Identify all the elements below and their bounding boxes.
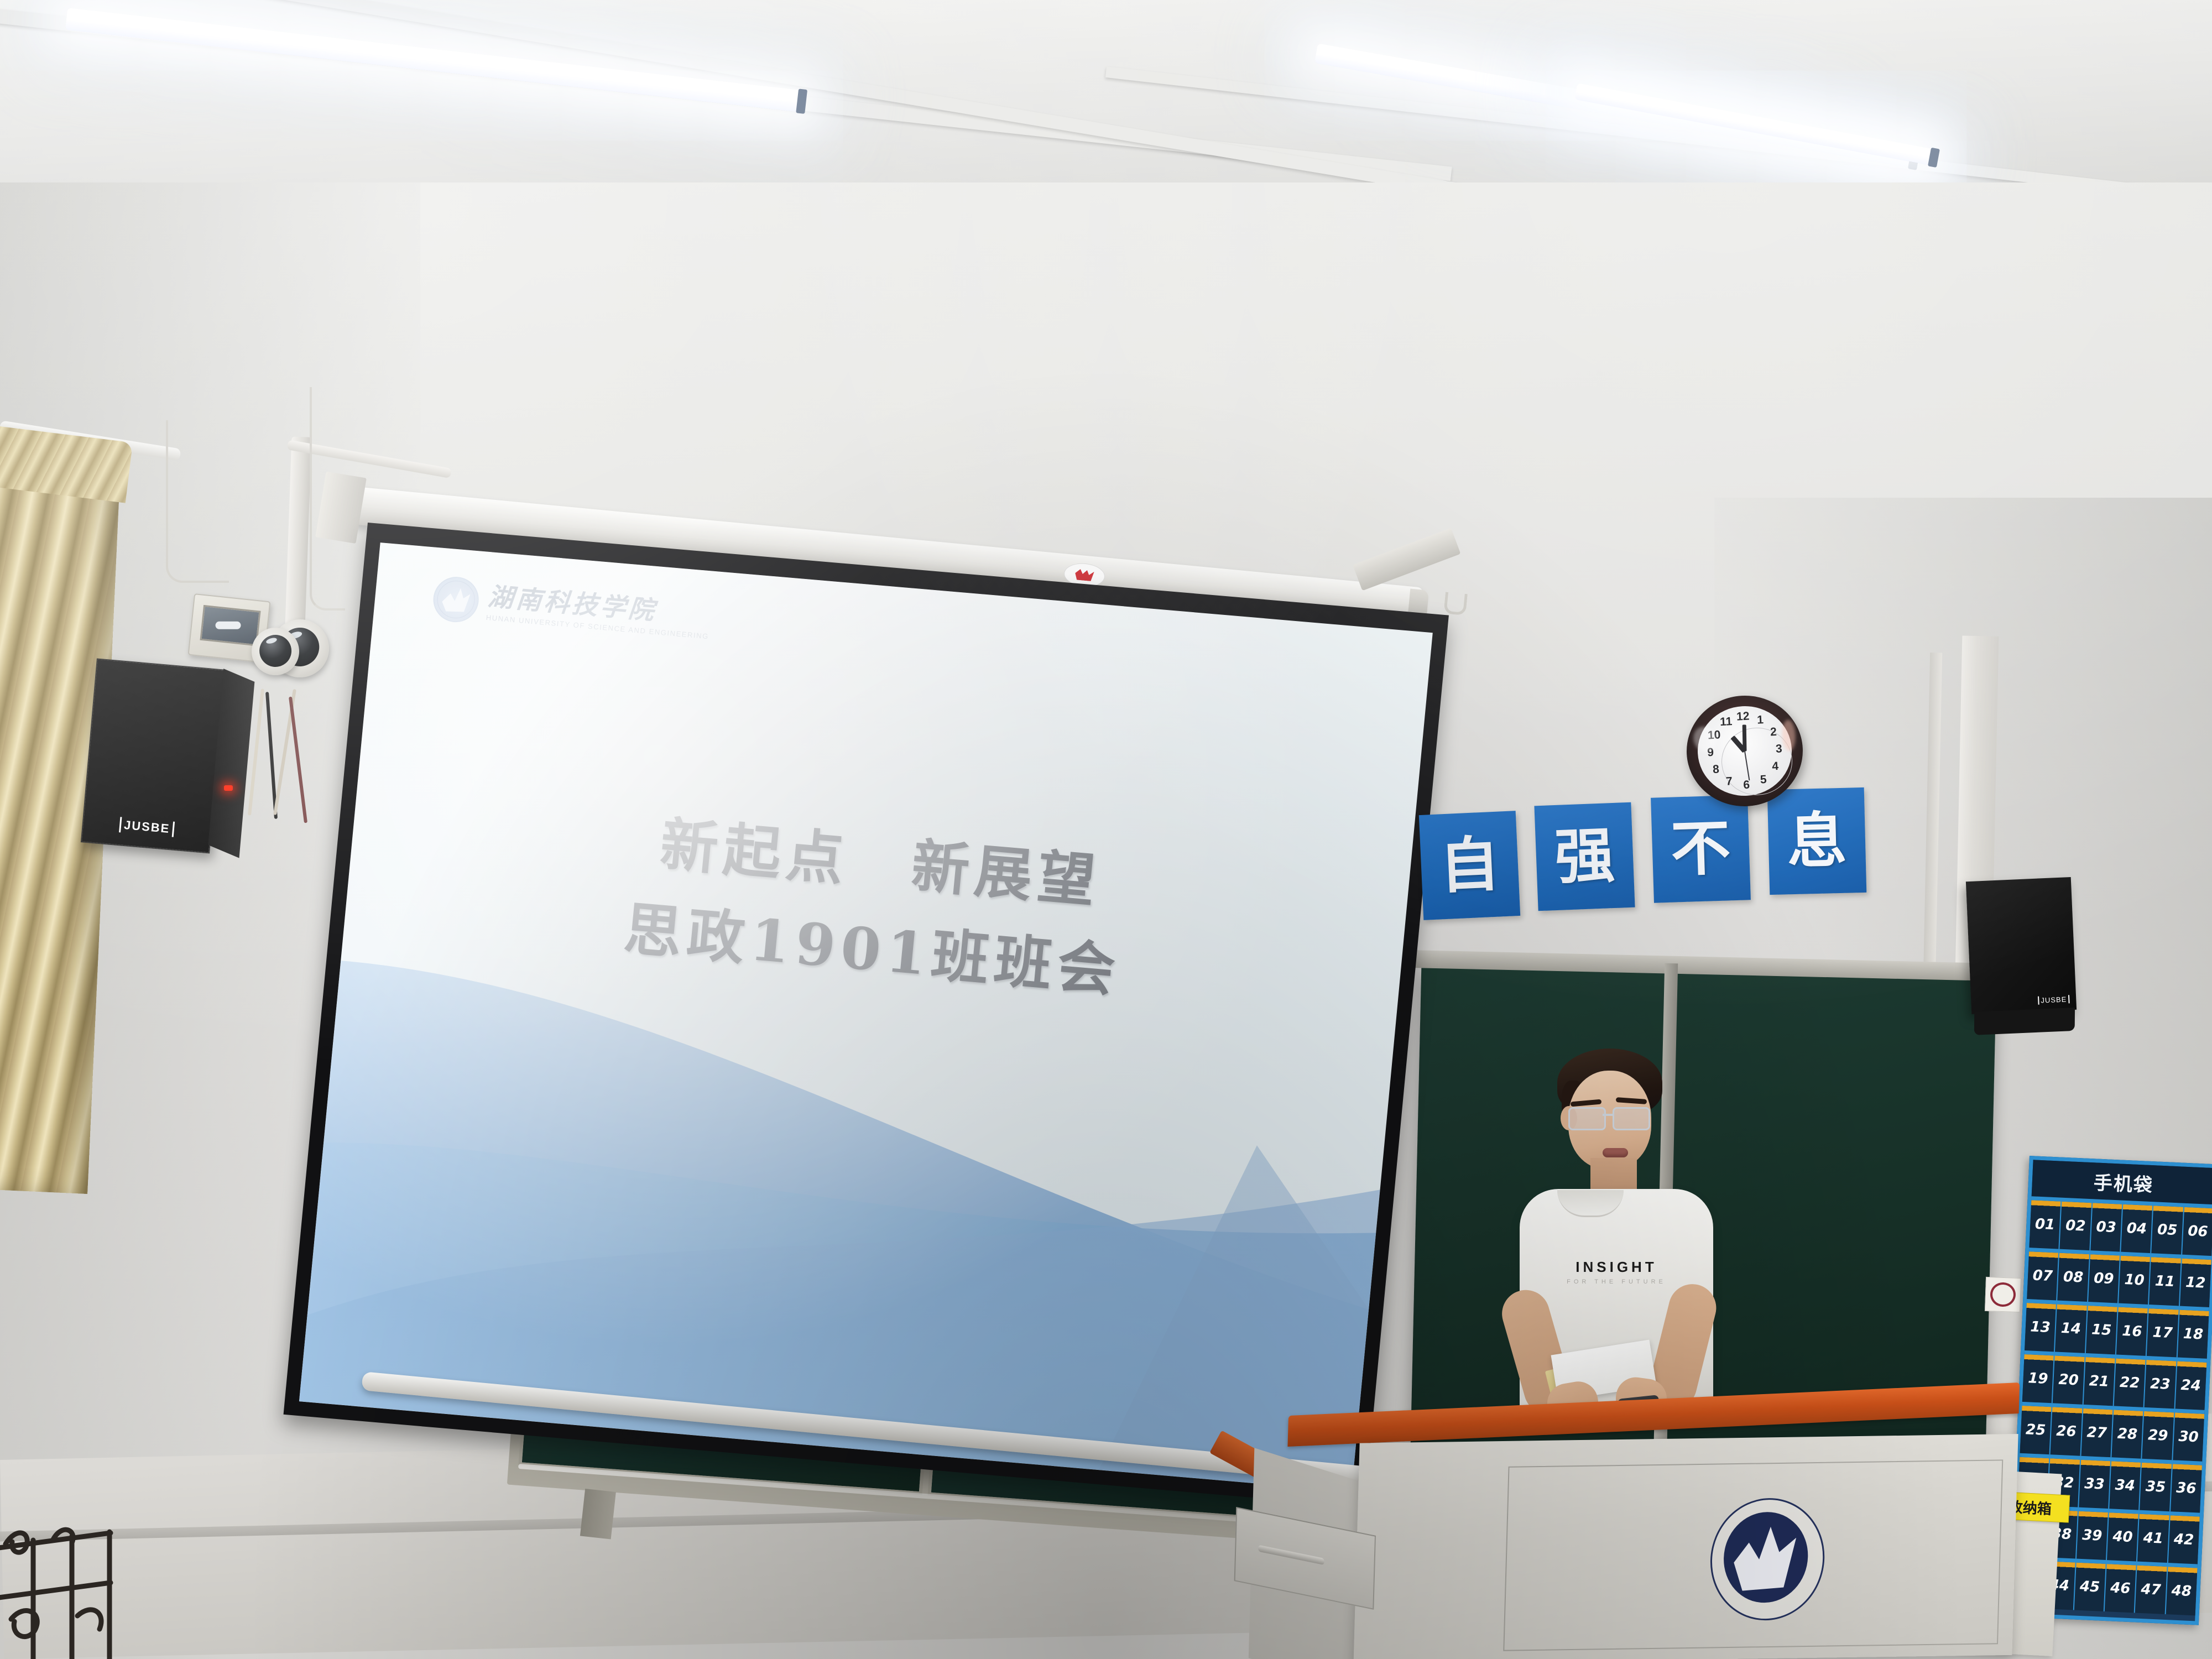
phone-pocket[interactable]: 45	[2074, 1563, 2106, 1611]
phone-pocket[interactable]: 15	[2086, 1306, 2119, 1354]
phone-pocket[interactable]: 14	[2055, 1305, 2088, 1353]
phone-pocket[interactable]: 30	[2173, 1412, 2204, 1461]
speaker-power-led	[224, 785, 233, 791]
phone-pocket-row: 070809101112	[2027, 1248, 2211, 1307]
lectern	[1282, 1416, 2018, 1659]
clock-numeral: 7	[1725, 775, 1733, 789]
phone-pocket-row: 252627282930	[2020, 1402, 2205, 1462]
phone-pocket[interactable]: 24	[2175, 1361, 2206, 1410]
phone-pocket[interactable]: 08	[2058, 1253, 2090, 1302]
phone-pocket-row: 010203040506	[2029, 1196, 2212, 1256]
slogan-tile: 息	[1767, 787, 1867, 895]
clock-minute-hand	[1743, 724, 1747, 751]
phone-pocket[interactable]: 36	[2171, 1464, 2202, 1512]
phone-pocket-row: 192021222324	[2022, 1350, 2207, 1410]
clock-numeral: 5	[1760, 773, 1767, 787]
speaker-brand-label: JUSBE	[119, 817, 175, 837]
phone-pocket[interactable]: 18	[2177, 1310, 2209, 1359]
phone-pocket[interactable]: 01	[2029, 1200, 2062, 1249]
phone-pocket-row: 131415161718	[2025, 1299, 2209, 1359]
phone-pocket[interactable]: 19	[2022, 1354, 2055, 1403]
phone-pocket[interactable]: 39	[2077, 1511, 2109, 1560]
slide-surface: 湖南科技学院 HUNAN UNIVERSITY OF SCIENCE AND E…	[299, 542, 1433, 1491]
clock-numeral: 3	[1775, 742, 1782, 756]
phone-pocket[interactable]: 05	[2152, 1206, 2184, 1254]
projection-screen: 湖南科技学院 HUNAN UNIVERSITY OF SCIENCE AND E…	[284, 523, 1449, 1507]
glasses-bridge	[1603, 1114, 1614, 1116]
phone-pocket[interactable]: 20	[2053, 1355, 2085, 1404]
slogan-char: 强	[1553, 826, 1615, 888]
phone-pocket[interactable]: 46	[2105, 1564, 2137, 1613]
phone-pocket[interactable]: 35	[2140, 1463, 2172, 1511]
wall-speaker-left: JUSBE	[81, 658, 226, 853]
phone-pocket[interactable]: 28	[2111, 1410, 2144, 1458]
phone-pocket[interactable]: 06	[2182, 1207, 2212, 1256]
lectern-body	[1353, 1434, 2018, 1659]
phone-pocket[interactable]: 09	[2088, 1254, 2121, 1303]
clock-numeral: 11	[1720, 715, 1733, 729]
clock-numeral: 8	[1713, 763, 1720, 776]
phone-pocket[interactable]: 42	[2168, 1515, 2200, 1564]
phone-pocket[interactable]: 17	[2147, 1308, 2179, 1357]
phone-pocket[interactable]: 47	[2135, 1566, 2168, 1614]
phone-pocket[interactable]: 48	[2166, 1567, 2197, 1615]
classroom-scene: JUSBE 湖南科技学院	[0, 0, 2212, 1659]
phone-pocket[interactable]: 21	[2083, 1357, 2116, 1406]
wall-switch[interactable]	[1985, 1277, 2021, 1312]
glasses-icon	[1565, 1107, 1657, 1129]
speaker-brand-label: JUSBE	[2038, 995, 2070, 1004]
phone-pocket[interactable]: 26	[2051, 1407, 2083, 1455]
presenter-mouth	[1603, 1148, 1628, 1157]
speaker-base	[1974, 1008, 2075, 1035]
cable-run	[166, 420, 229, 583]
phone-pocket[interactable]: 13	[2025, 1303, 2057, 1352]
clock-numeral: 1	[1757, 713, 1764, 727]
clock-numeral: 4	[1772, 760, 1779, 774]
shirt-print-text: INSIGHT	[1520, 1259, 1713, 1276]
phone-pocket[interactable]: 27	[2081, 1408, 2114, 1457]
slogan-tile: 不	[1651, 795, 1751, 902]
phone-pocket[interactable]: 16	[2116, 1307, 2149, 1356]
phone-pocket[interactable]: 40	[2107, 1512, 2140, 1561]
phone-pocket[interactable]: 25	[2020, 1406, 2053, 1454]
crest-ring	[436, 579, 477, 620]
phone-pocket[interactable]: 04	[2121, 1204, 2153, 1253]
drawer-handle[interactable]	[1258, 1545, 1324, 1565]
phone-pocket[interactable]: 03	[2090, 1203, 2123, 1251]
slogan-char: 息	[1786, 811, 1848, 872]
slogan-tile: 强	[1534, 802, 1635, 911]
screen-hook-icon	[1443, 592, 1467, 615]
phone-pocket[interactable]: 29	[2142, 1411, 2175, 1460]
clock-face: 121234567891011	[1695, 704, 1794, 799]
phone-pocket[interactable]: 22	[2114, 1358, 2147, 1407]
wall-speaker-right: JUSBE	[1966, 877, 2077, 1014]
slogan-char: 不	[1670, 818, 1731, 879]
wall-slogan-tiles: 自 强 不 息	[1421, 784, 1880, 922]
control-panel-display	[200, 605, 260, 646]
phone-pocket[interactable]: 23	[2145, 1360, 2177, 1408]
phone-pocket[interactable]: 10	[2119, 1256, 2151, 1305]
iron-rack	[0, 1515, 188, 1659]
slide-university-logo: 湖南科技学院 HUNAN UNIVERSITY OF SCIENCE AND E…	[431, 575, 712, 644]
phone-pocket[interactable]: 41	[2137, 1514, 2170, 1563]
phone-pocket[interactable]: 34	[2109, 1461, 2142, 1510]
phone-pocket[interactable]: 02	[2060, 1202, 2093, 1250]
phone-pocket[interactable]: 12	[2180, 1259, 2211, 1307]
phone-pocket[interactable]: 33	[2079, 1460, 2111, 1509]
phone-pocket[interactable]: 07	[2027, 1251, 2059, 1300]
clock-numeral: 2	[1770, 726, 1777, 739]
clock-numeral: 12	[1736, 709, 1750, 723]
phone-pocket[interactable]: 11	[2149, 1257, 2182, 1306]
phone-pocket-title-text: 手机袋	[2093, 1167, 2154, 1197]
university-crest-icon	[431, 575, 481, 624]
blackboard-bracket	[580, 1489, 616, 1540]
cable-bundle	[249, 688, 348, 838]
glasses-lens	[1613, 1107, 1650, 1130]
shirt-print-subtext: FOR THE FUTURE	[1520, 1279, 1713, 1285]
slide-title-block: 新起点 新展望 思政1901班班会	[342, 774, 1411, 1039]
glasses-lens	[1568, 1107, 1606, 1130]
slogan-char: 自	[1438, 834, 1501, 897]
lectern-university-crest-icon	[1709, 1498, 1823, 1618]
slogan-tile: 自	[1419, 811, 1520, 920]
